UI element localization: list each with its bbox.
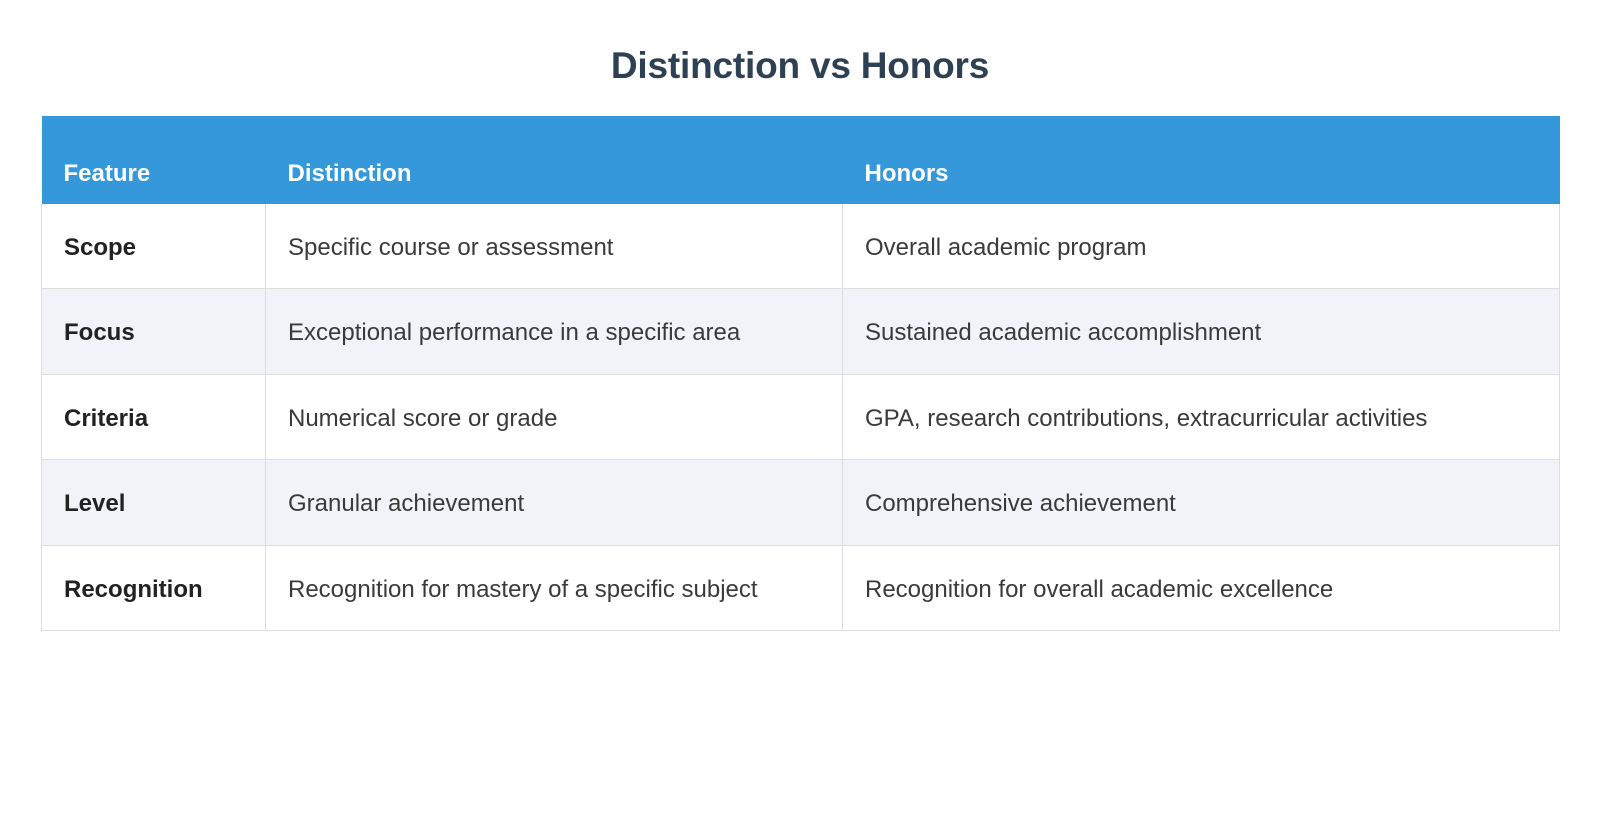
cell-distinction: Exceptional performance in a specific ar… xyxy=(266,289,843,374)
table-row: Focus Exceptional performance in a speci… xyxy=(42,289,1560,374)
cell-honors: Sustained academic accomplishment xyxy=(843,289,1560,374)
honors-value: Comprehensive achievement xyxy=(865,486,1537,522)
distinction-value: Specific course or assessment xyxy=(288,230,820,266)
table-row: Recognition Recognition for mastery of a… xyxy=(42,545,1560,630)
feature-label: Level xyxy=(64,486,243,522)
column-header-honors: Honors xyxy=(843,116,1560,204)
table-row: Scope Specific course or assessment Over… xyxy=(42,204,1560,289)
table-header-row: Feature Distinction Honors xyxy=(42,116,1560,204)
cell-feature: Recognition xyxy=(42,545,266,630)
column-header-distinction: Distinction xyxy=(266,116,843,204)
cell-honors: GPA, research contributions, extracurric… xyxy=(843,374,1560,459)
cell-feature: Criteria xyxy=(42,374,266,459)
cell-distinction: Granular achievement xyxy=(266,460,843,545)
table-row: Criteria Numerical score or grade GPA, r… xyxy=(42,374,1560,459)
distinction-value: Recognition for mastery of a specific su… xyxy=(288,572,820,608)
cell-feature: Scope xyxy=(42,204,266,289)
honors-value: Recognition for overall academic excelle… xyxy=(865,572,1537,608)
distinction-value: Numerical score or grade xyxy=(288,401,820,437)
honors-value: Overall academic program xyxy=(865,230,1537,266)
comparison-table-page: Distinction vs Honors Feature Distinctio… xyxy=(0,0,1600,820)
feature-label: Criteria xyxy=(64,401,243,437)
distinction-value: Exceptional performance in a specific ar… xyxy=(288,315,820,351)
cell-honors: Overall academic program xyxy=(843,204,1560,289)
feature-label: Scope xyxy=(64,230,243,266)
feature-label: Recognition xyxy=(64,572,243,608)
comparison-table: Feature Distinction Honors Scope Specifi… xyxy=(41,116,1560,631)
honors-value: Sustained academic accomplishment xyxy=(865,315,1537,351)
column-header-feature: Feature xyxy=(42,116,266,204)
feature-label: Focus xyxy=(64,315,243,351)
cell-feature: Focus xyxy=(42,289,266,374)
cell-feature: Level xyxy=(42,460,266,545)
comparison-table-container: Feature Distinction Honors Scope Specifi… xyxy=(41,116,1559,631)
table-header: Feature Distinction Honors xyxy=(42,116,1560,204)
cell-distinction: Recognition for mastery of a specific su… xyxy=(266,545,843,630)
table-body: Scope Specific course or assessment Over… xyxy=(42,204,1560,631)
table-row: Level Granular achievement Comprehensive… xyxy=(42,460,1560,545)
honors-value: GPA, research contributions, extracurric… xyxy=(865,401,1537,437)
distinction-value: Granular achievement xyxy=(288,486,820,522)
page-title: Distinction vs Honors xyxy=(0,0,1600,87)
cell-distinction: Specific course or assessment xyxy=(266,204,843,289)
cell-distinction: Numerical score or grade xyxy=(266,374,843,459)
cell-honors: Recognition for overall academic excelle… xyxy=(843,545,1560,630)
cell-honors: Comprehensive achievement xyxy=(843,460,1560,545)
